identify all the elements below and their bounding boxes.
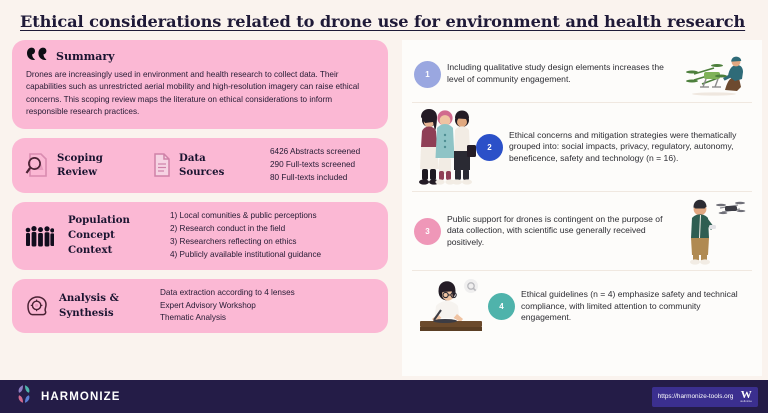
- data-sources-group: DataSources: [152, 151, 270, 181]
- summary-card: Summary Drones are increasingly used in …: [12, 40, 388, 129]
- analysis-label: Synthesis: [59, 306, 151, 321]
- content-area: Summary Drones are increasingly used in …: [0, 31, 768, 380]
- page-title: Ethical considerations related to drone …: [0, 0, 768, 31]
- scoping-review-label: ScopingReview: [57, 151, 103, 181]
- scoping-detail-line: 80 Full-texts included: [270, 172, 360, 185]
- pcc-detail-line: 1) Local comunities & public perceptions: [170, 210, 321, 223]
- scoping-review-card: ScopingReview: [12, 138, 388, 193]
- analysis-synthesis-card: Analysis & Synthesis Data extraction acc…: [12, 279, 388, 334]
- pcc-labels: Population Concept Context: [68, 213, 160, 257]
- analysis-detail-line: Thematic Analysis: [160, 312, 295, 325]
- quote-icon: [26, 47, 48, 65]
- finding-4: 4 Ethical guidelines (n = 4) emphasize s…: [412, 270, 752, 342]
- person-launching-drone-illustration: [678, 50, 750, 98]
- website-badge[interactable]: https://harmonize-tools.org W wellcome: [652, 387, 758, 407]
- finding-text: Public support for drones is contingent …: [441, 214, 676, 249]
- website-url[interactable]: https://harmonize-tools.org: [658, 393, 734, 400]
- group-of-three-people-illustration: [414, 107, 476, 187]
- document-icon: [152, 152, 172, 178]
- pcc-detail-line: 2) Research conduct in the field: [170, 223, 321, 236]
- funder-name: wellcome: [740, 401, 752, 403]
- brand-lockup[interactable]: HARMONIZE: [14, 384, 121, 409]
- pcc-label: Concept: [68, 228, 160, 243]
- scoping-row: ScopingReview: [24, 146, 376, 185]
- findings-panel: 1 Including qualitative study design ele…: [402, 40, 762, 376]
- finding-1: 1 Including qualitative study design ele…: [412, 46, 752, 102]
- summary-header: Summary: [26, 47, 374, 65]
- scoping-detail-line: 6426 Abstracts screened: [270, 146, 360, 159]
- pcc-details: 1) Local comunities & public perceptions…: [170, 210, 321, 262]
- analysis-labels: Analysis & Synthesis: [59, 291, 151, 321]
- pcc-label: Population: [68, 213, 160, 228]
- man-flying-drone-illustration: [676, 196, 750, 266]
- analysis-details: Data extraction according to 4 lenses Ex…: [160, 287, 295, 326]
- finding-2: 2 Ethical concerns and mitigation strate…: [412, 102, 752, 191]
- summary-text: Drones are increasingly used in environm…: [26, 69, 374, 119]
- people-group-icon: [24, 224, 54, 248]
- analysis-label: Analysis &: [59, 291, 151, 306]
- summary-title: Summary: [56, 50, 115, 63]
- finding-number-badge: 1: [414, 61, 441, 88]
- finding-number-badge: 2: [476, 134, 503, 161]
- left-column: Summary Drones are increasingly used in …: [0, 40, 398, 380]
- brain-gear-icon: [24, 293, 50, 319]
- footer-bar: HARMONIZE https://harmonize-tools.org W …: [0, 380, 768, 413]
- population-concept-context-card: Population Concept Context 1) Local comu…: [12, 202, 388, 270]
- pcc-detail-line: 4) Publicly available institutional guid…: [170, 249, 321, 262]
- data-sources-label: DataSources: [179, 151, 224, 181]
- wellcome-w-logo: W wellcome: [740, 390, 752, 403]
- pcc-label: Context: [68, 243, 160, 258]
- finding-number-badge: 3: [414, 218, 441, 245]
- person-writing-at-desk-illustration: [414, 276, 488, 338]
- pcc-detail-line: 3) Researchers reflecting on ethics: [170, 236, 321, 249]
- finding-text: Ethical guidelines (n = 4) emphasize saf…: [515, 289, 750, 324]
- harmonize-leaf-logo: [14, 384, 34, 409]
- finding-number-badge: 4: [488, 293, 515, 320]
- scoping-detail-line: 290 Full-texts screened: [270, 159, 360, 172]
- pcc-row: Population Concept Context 1) Local comu…: [24, 210, 376, 262]
- finding-text: Ethical concerns and mitigation strategi…: [503, 130, 750, 165]
- finding-text: Including qualitative study design eleme…: [441, 62, 678, 85]
- finding-3: 3 Public support for drones is contingen…: [412, 191, 752, 270]
- infographic-poster: Ethical considerations related to drone …: [0, 0, 768, 413]
- magnifier-document-icon: [24, 151, 50, 179]
- scoping-details: 6426 Abstracts screened 290 Full-texts s…: [270, 146, 360, 185]
- scoping-review-group: ScopingReview: [24, 151, 152, 181]
- analysis-row: Analysis & Synthesis Data extraction acc…: [24, 287, 376, 326]
- analysis-detail-line: Expert Advisory Workshop: [160, 300, 295, 313]
- analysis-detail-line: Data extraction according to 4 lenses: [160, 287, 295, 300]
- brand-name: HARMONIZE: [41, 391, 121, 403]
